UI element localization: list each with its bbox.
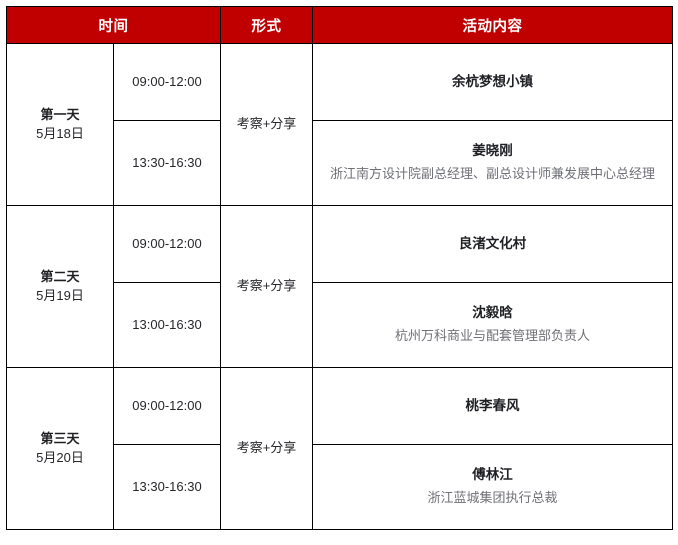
table-body: 第一天 5月18日 09:00-12:00 考察+分享 余杭梦想小镇 13:30… — [7, 44, 673, 530]
schedule-table-container: 时间 形式 活动内容 第一天 5月18日 09:00-12:00 考察+分享 余… — [6, 6, 672, 530]
table-row: 第三天 5月20日 09:00-12:00 考察+分享 桃李春风 — [7, 368, 673, 445]
activity-desc: 浙江南方设计院副总经理、副总设计师兼发展中心总经理 — [317, 164, 668, 185]
day-label: 第二天 — [11, 268, 109, 287]
activity-cell: 傅林江 浙江蓝城集团执行总裁 — [313, 445, 673, 530]
day-cell-3: 第三天 5月20日 — [7, 368, 114, 530]
day-label: 第一天 — [11, 106, 109, 125]
activity-cell: 良渚文化村 — [313, 206, 673, 283]
activity-title: 傅林江 — [317, 465, 668, 485]
activity-title: 桃李春风 — [317, 396, 668, 416]
activity-cell: 沈毅晗 杭州万科商业与配套管理部负责人 — [313, 283, 673, 368]
form-cell-1: 考察+分享 — [221, 44, 313, 206]
time-cell: 13:00-16:30 — [114, 283, 221, 368]
activity-title: 良渚文化村 — [317, 234, 668, 254]
activity-cell: 姜晓刚 浙江南方设计院副总经理、副总设计师兼发展中心总经理 — [313, 121, 673, 206]
activity-desc: 杭州万科商业与配套管理部负责人 — [317, 326, 668, 347]
time-cell: 13:30-16:30 — [114, 121, 221, 206]
day-cell-2: 第二天 5月19日 — [7, 206, 114, 368]
day-date: 5月18日 — [11, 125, 109, 144]
table-header: 时间 形式 活动内容 — [7, 7, 673, 44]
day-date: 5月19日 — [11, 287, 109, 306]
form-cell-3: 考察+分享 — [221, 368, 313, 530]
activity-title: 余杭梦想小镇 — [317, 72, 668, 92]
header-row: 时间 形式 活动内容 — [7, 7, 673, 44]
activity-title: 姜晓刚 — [317, 141, 668, 161]
schedule-table: 时间 形式 活动内容 第一天 5月18日 09:00-12:00 考察+分享 余… — [6, 6, 673, 530]
table-row: 第二天 5月19日 09:00-12:00 考察+分享 良渚文化村 — [7, 206, 673, 283]
form-cell-2: 考察+分享 — [221, 206, 313, 368]
time-cell: 13:30-16:30 — [114, 445, 221, 530]
activity-cell: 余杭梦想小镇 — [313, 44, 673, 121]
activity-cell: 桃李春风 — [313, 368, 673, 445]
column-header-activity: 活动内容 — [313, 7, 673, 44]
day-date: 5月20日 — [11, 449, 109, 468]
time-cell: 09:00-12:00 — [114, 368, 221, 445]
column-header-form: 形式 — [221, 7, 313, 44]
table-row: 第一天 5月18日 09:00-12:00 考察+分享 余杭梦想小镇 — [7, 44, 673, 121]
time-cell: 09:00-12:00 — [114, 206, 221, 283]
activity-title: 沈毅晗 — [317, 303, 668, 323]
time-cell: 09:00-12:00 — [114, 44, 221, 121]
day-cell-1: 第一天 5月18日 — [7, 44, 114, 206]
column-header-time: 时间 — [7, 7, 221, 44]
activity-desc: 浙江蓝城集团执行总裁 — [317, 488, 668, 509]
day-label: 第三天 — [11, 430, 109, 449]
